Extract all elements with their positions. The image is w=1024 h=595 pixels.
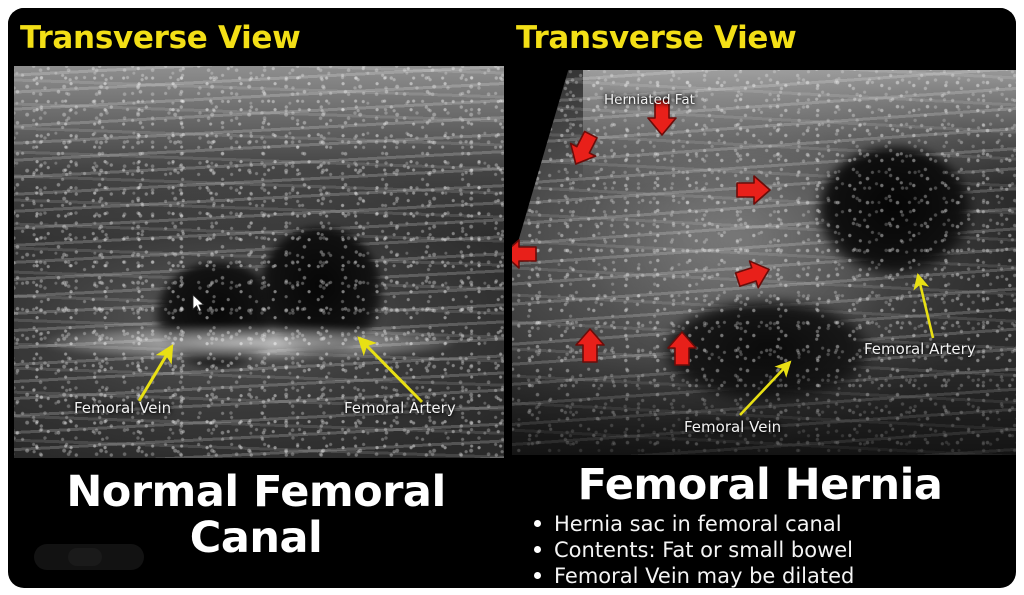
label-femoral-artery-left: Femoral Artery [344,399,456,417]
panel-left-header-bar: Transverse View [8,8,504,60]
list-item-text: Hernia sac in femoral canal [554,511,842,537]
list-item: Contents: Fat or small bowel [504,537,1016,563]
panel-normal-femoral-canal: Transverse View [8,8,504,588]
ultrasound-image-normal: Femoral Vein Femoral Artery [14,66,504,458]
label-femoral-artery-right: Femoral Artery [864,340,976,358]
panel-right-header-bar: Transverse View [504,8,1016,60]
caption-hernia: Femoral Hernia Hernia sac in femoral can… [504,463,1016,588]
list-item: Hernia sac in femoral canal [504,511,1016,537]
ultrasound-image-hernia: Herniated Fat Femoral Artery Femoral Vei… [512,70,1016,455]
bullet-dot-icon [534,572,541,579]
caption-hernia-title: Femoral Hernia [504,463,1016,509]
panel-femoral-hernia: Transverse View [504,8,1016,588]
list-item: Femoral Vein may be dilated [504,563,1016,588]
deep-shadow-layer [512,355,1016,455]
list-item-text: Femoral Vein may be dilated [554,563,854,588]
bullet-dot-icon [534,546,541,553]
comparison-card: Transverse View [8,8,1016,588]
caption-normal-line1: Normal Femoral [8,470,504,516]
screenshot-root: Transverse View [0,0,1024,595]
label-femoral-vein-left: Femoral Vein [74,399,171,417]
label-herniated-fat: Herniated Fat [604,92,695,108]
panel-right-header-text: Transverse View [516,20,797,56]
hernia-feature-list: Hernia sac in femoral canal Contents: Fa… [504,511,1016,588]
overlay-pill-artifact [34,544,144,570]
mouse-pointer-icon [192,294,205,313]
panel-left-header-text: Transverse View [20,20,301,56]
bullet-dot-icon [534,520,541,527]
list-item-text: Contents: Fat or small bowel [554,537,853,563]
label-femoral-vein-right: Femoral Vein [684,418,781,436]
